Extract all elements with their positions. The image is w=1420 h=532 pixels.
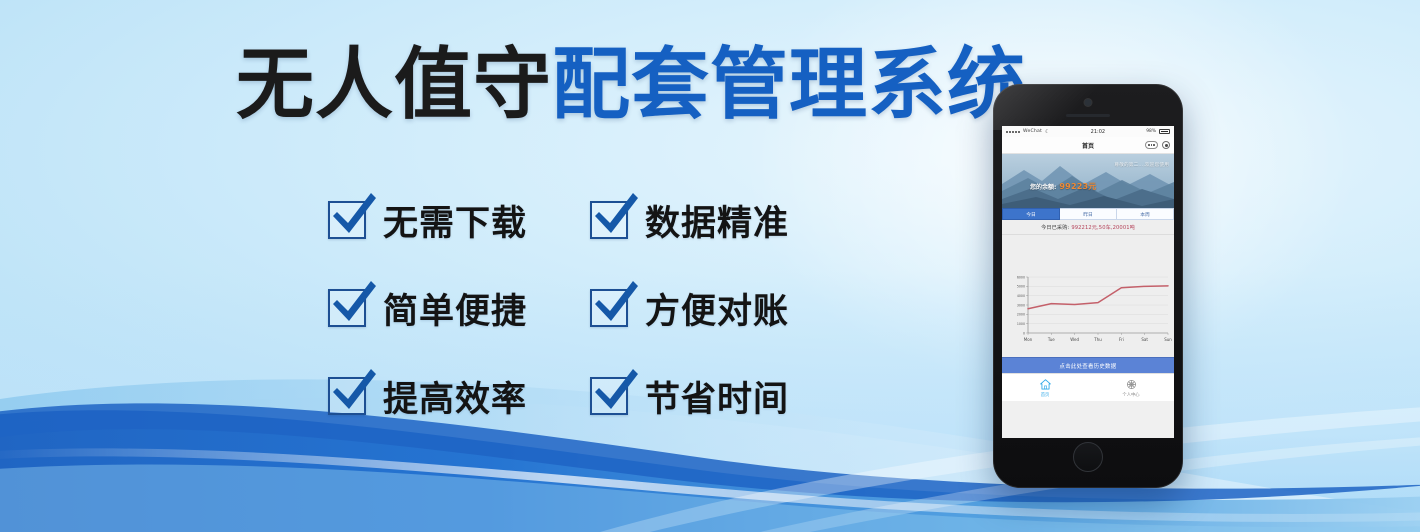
summary-value: 992212元,50车,20001吨: [1071, 224, 1135, 231]
feature-label: 方便对账: [645, 283, 789, 334]
balance-value: 99223元: [1059, 181, 1096, 192]
phone-screen: WeChat ☾ 21:02 98% 首页: [1002, 126, 1174, 438]
tabbar-item-home[interactable]: 首页: [1002, 374, 1088, 401]
feature-item-3: 方便对账: [590, 264, 852, 352]
checkbox-checked-icon: [328, 377, 366, 415]
carrier-label: WeChat: [1023, 129, 1042, 134]
wechat-capsule-buttons[interactable]: [1145, 141, 1170, 149]
bottom-tab-bar: 首页 个人中心: [1002, 373, 1174, 401]
history-cta-button[interactable]: 点击此处查看历史数据: [1002, 357, 1174, 373]
svg-text:Sun: Sun: [1164, 337, 1172, 342]
nav-bar: 首页: [1002, 137, 1174, 154]
banner-greeting: 尊敬的第二...,欢迎您使用: [1114, 162, 1169, 168]
tab-week[interactable]: 本周: [1117, 208, 1174, 220]
wechat-more-icon[interactable]: [1145, 141, 1158, 149]
balance-label: 您的余额:: [1030, 182, 1056, 191]
title-part-accent: 配套管理系统: [552, 40, 1026, 130]
chart-canvas: 0100020003000400050006000MonTueWedThuFri…: [1002, 235, 1174, 357]
title-part-dark: 无人值守: [236, 40, 552, 130]
check-mark-icon: [589, 278, 641, 328]
nav-title: 首页: [1082, 141, 1094, 150]
tab-yesterday[interactable]: 昨日: [1060, 208, 1117, 220]
status-bar: WeChat ☾ 21:02 98%: [1002, 126, 1174, 137]
feature-list: 无需下载 数据精准 简单便捷 方便对账 提高效率: [328, 176, 852, 440]
svg-text:4000: 4000: [1017, 294, 1025, 298]
tabbar-label-home: 首页: [1041, 392, 1050, 398]
feature-item-0: 无需下载: [328, 176, 590, 264]
balance-row: 您的余额: 99223元: [1030, 181, 1096, 192]
checkbox-checked-icon: [328, 201, 366, 239]
svg-text:3000: 3000: [1017, 303, 1025, 307]
earpiece-speaker: [1066, 114, 1110, 117]
page-title: 无人值守配套管理系统: [236, 46, 1026, 126]
svg-text:Sat: Sat: [1141, 337, 1148, 342]
svg-text:0: 0: [1023, 331, 1025, 335]
feature-label: 无需下载: [383, 195, 527, 246]
signal-strength-icon: [1006, 131, 1020, 133]
svg-text:6000: 6000: [1017, 275, 1025, 279]
check-mark-icon: [327, 190, 379, 240]
feature-item-5: 节省时间: [590, 352, 852, 440]
svg-text:2000: 2000: [1017, 313, 1025, 317]
feature-item-4: 提高效率: [328, 352, 590, 440]
status-time: 21:02: [1053, 129, 1144, 135]
tabbar-item-profile[interactable]: 个人中心: [1088, 374, 1174, 401]
svg-text:5000: 5000: [1017, 285, 1025, 289]
svg-text:Thu: Thu: [1093, 337, 1102, 342]
summary-prefix: 今日已采购:: [1041, 224, 1069, 231]
wifi-icon: ☾: [1045, 129, 1049, 135]
checkbox-checked-icon: [590, 201, 628, 239]
svg-text:Fri: Fri: [1119, 337, 1124, 342]
balance-banner: 尊敬的第二...,欢迎您使用 您的余额: 99223元: [1002, 154, 1174, 208]
svg-text:Mon: Mon: [1024, 337, 1033, 342]
checkbox-checked-icon: [590, 377, 628, 415]
phone-mockup: WeChat ☾ 21:02 98% 首页: [993, 84, 1183, 488]
battery-full-icon: [1159, 129, 1170, 134]
svg-text:Tue: Tue: [1047, 337, 1055, 342]
purchase-summary: 今日已采购: 992212元,50车,20001吨: [1002, 220, 1174, 235]
checkbox-checked-icon: [590, 289, 628, 327]
feature-label: 简单便捷: [383, 283, 527, 334]
feature-item-1: 数据精准: [590, 176, 852, 264]
feature-label: 提高效率: [383, 371, 527, 422]
home-button[interactable]: [1073, 442, 1103, 472]
home-icon: [1039, 378, 1052, 391]
cta-label: 点击此处查看历史数据: [1060, 362, 1117, 370]
feature-item-2: 简单便捷: [328, 264, 590, 352]
wechat-close-icon[interactable]: [1162, 141, 1170, 149]
checkbox-checked-icon: [328, 289, 366, 327]
tab-today[interactable]: 今日: [1002, 208, 1060, 220]
period-tabs: 今日 昨日 本周: [1002, 208, 1174, 220]
gear-icon: [1125, 378, 1138, 391]
svg-text:1000: 1000: [1017, 322, 1025, 326]
check-mark-icon: [589, 190, 641, 240]
tabbar-label-profile: 个人中心: [1122, 392, 1139, 398]
check-mark-icon: [327, 278, 379, 328]
trend-chart: 0100020003000400050006000MonTueWedThuFri…: [1002, 235, 1174, 357]
svg-text:Wed: Wed: [1070, 337, 1079, 342]
check-mark-icon: [589, 366, 641, 416]
feature-label: 数据精准: [645, 195, 789, 246]
check-mark-icon: [327, 366, 379, 416]
front-camera-icon: [1085, 99, 1092, 106]
phone-glare: [993, 84, 1099, 130]
battery-percent-label: 98%: [1146, 129, 1156, 134]
feature-label: 节省时间: [645, 371, 789, 422]
